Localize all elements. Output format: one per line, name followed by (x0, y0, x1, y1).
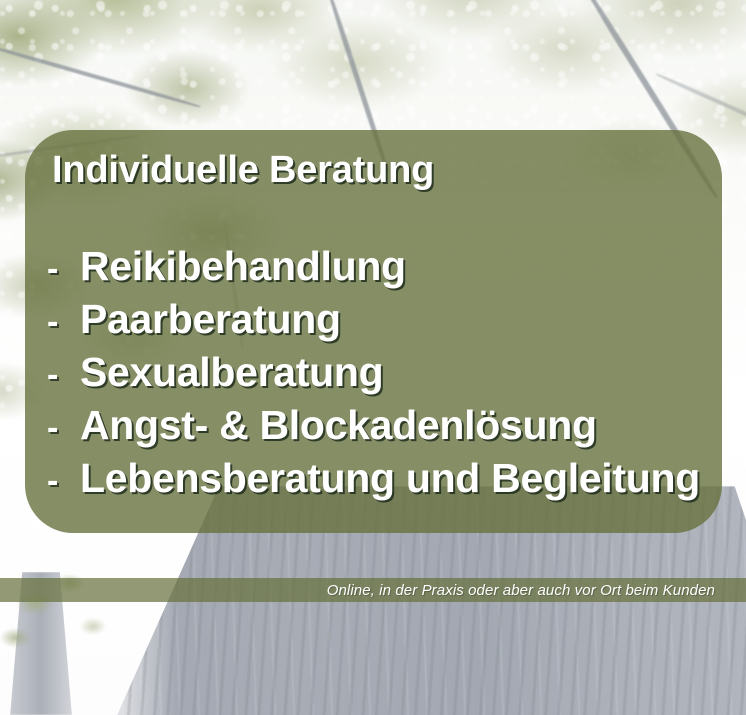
dash-bullet-icon: - (47, 358, 80, 392)
dash-bullet-icon: - (47, 252, 80, 286)
list-item: - Lebensberatung und Begleitung (47, 458, 712, 511)
dash-bullet-icon: - (47, 411, 80, 445)
service-label: Reikibehandlung (80, 246, 406, 287)
service-label: Lebensberatung und Begleitung (80, 458, 700, 499)
dash-bullet-icon: - (47, 464, 80, 498)
service-label: Sexualberatung (80, 352, 383, 393)
footer-band: Online, in der Praxis oder aber auch vor… (0, 578, 746, 602)
dash-bullet-icon: - (47, 305, 80, 339)
promo-poster: Individuelle Beratung - Reikibehandlung … (0, 0, 746, 715)
page-title: Individuelle Beratung (52, 149, 434, 192)
list-item: - Angst- & Blockadenlösung (47, 405, 712, 458)
list-item: - Sexualberatung (47, 352, 712, 405)
service-label: Angst- & Blockadenlösung (80, 405, 597, 446)
list-item: - Paarberatung (47, 299, 712, 352)
list-item: - Reikibehandlung (47, 246, 712, 299)
content-card: Individuelle Beratung - Reikibehandlung … (25, 130, 722, 533)
service-list: - Reikibehandlung - Paarberatung - Sexua… (47, 246, 712, 511)
service-label: Paarberatung (80, 299, 341, 340)
footer-caption: Online, in der Praxis oder aber auch vor… (327, 582, 746, 599)
